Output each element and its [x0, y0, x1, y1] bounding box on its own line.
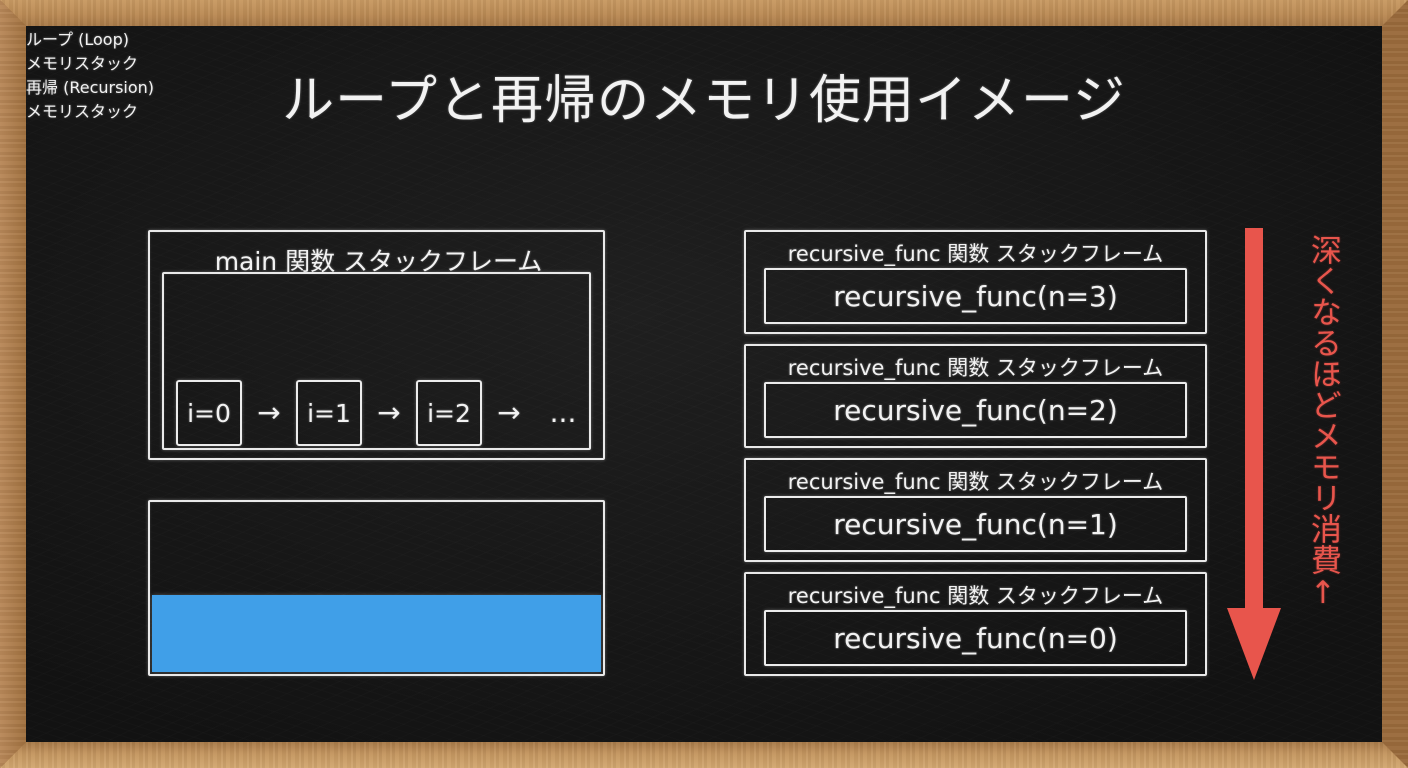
recursion-call-box: recursive_func(n=1) — [764, 496, 1187, 552]
loop-memory-stack-bar — [148, 500, 605, 676]
page-title: ループと再帰のメモリ使用イメージ — [26, 58, 1382, 133]
arrow-right-icon: → — [242, 399, 296, 427]
frame-left-stile — [0, 0, 26, 768]
recursion-stack-frame-label: recursive_func 関数 スタックフレーム — [746, 466, 1205, 496]
frame-bottom-rail — [0, 742, 1408, 768]
arrow-right-icon: → — [362, 399, 416, 427]
downward-arrow-icon — [1224, 228, 1284, 680]
arrow-right-icon: → — [482, 399, 536, 427]
loop-iteration-sequence: i=0 → i=1 → i=2 → ... — [176, 381, 596, 445]
loop-iteration-box: i=0 — [176, 380, 242, 446]
loop-column-heading: ループ (Loop) — [26, 26, 486, 50]
recursion-stack-frame-label: recursive_func 関数 スタックフレーム — [746, 238, 1205, 268]
loop-iteration-box: i=1 — [296, 380, 362, 446]
recursion-stack-frames: recursive_func 関数 スタックフレーム recursive_fun… — [744, 230, 1207, 676]
recursion-stack-frame: recursive_func 関数 スタックフレーム recursive_fun… — [744, 344, 1207, 448]
loop-iteration-box: i=2 — [416, 380, 482, 446]
recursion-call-box: recursive_func(n=0) — [764, 610, 1187, 666]
loop-iteration-ellipsis: ... — [536, 399, 590, 427]
recursion-stack-frame: recursive_func 関数 スタックフレーム recursive_fun… — [744, 230, 1207, 334]
recursion-stack-frame: recursive_func 関数 スタックフレーム recursive_fun… — [744, 458, 1207, 562]
loop-memory-usage-fill — [152, 595, 601, 672]
frame-top-rail — [0, 0, 1408, 26]
chalkboard: ループと再帰のメモリ使用イメージ ループ (Loop) main 関数 スタック… — [26, 26, 1382, 742]
recursion-stack-frame: recursive_func 関数 スタックフレーム recursive_fun… — [744, 572, 1207, 676]
depth-memory-note: 深くなるほどメモリ消費↑ — [1294, 234, 1338, 611]
recursion-call-box: recursive_func(n=2) — [764, 382, 1187, 438]
recursion-call-box: recursive_func(n=3) — [764, 268, 1187, 324]
recursion-stack-frame-label: recursive_func 関数 スタックフレーム — [746, 352, 1205, 382]
frame-right-stile — [1382, 0, 1408, 768]
wooden-picture-frame: ループと再帰のメモリ使用イメージ ループ (Loop) main 関数 スタック… — [0, 0, 1408, 768]
recursion-stack-frame-label: recursive_func 関数 スタックフレーム — [746, 580, 1205, 610]
